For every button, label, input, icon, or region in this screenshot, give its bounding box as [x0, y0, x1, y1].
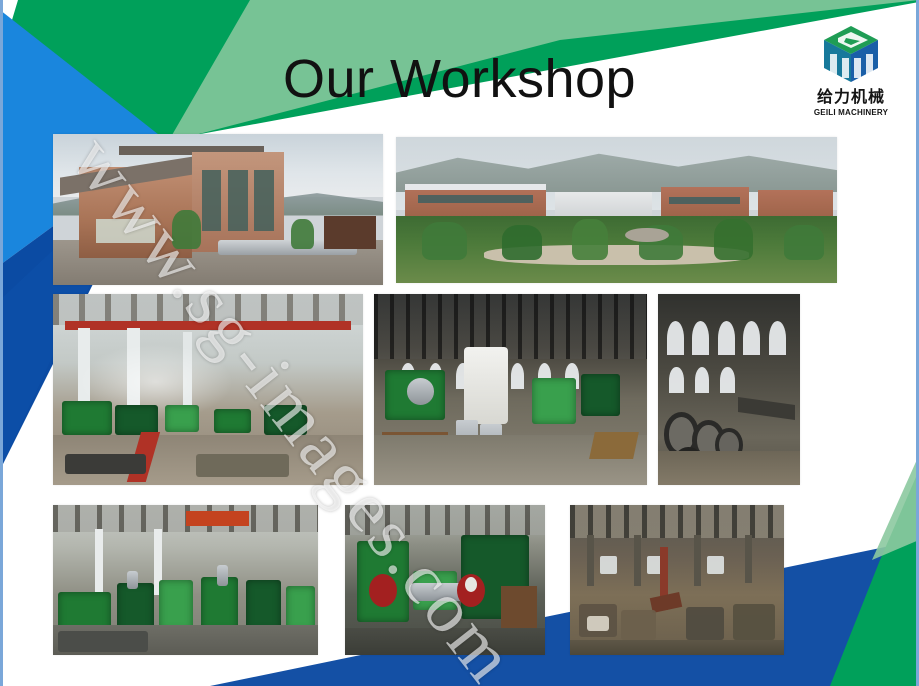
photo-roller-unit[interactable] — [345, 505, 545, 655]
photo-production-line[interactable] — [53, 505, 318, 655]
photo-factory-campus[interactable] — [396, 137, 837, 283]
logo-cube-icon — [820, 24, 882, 86]
photo-scrap-yard[interactable] — [570, 505, 784, 655]
photo-parts-storage[interactable] — [658, 294, 800, 485]
shape-bottom-green — [830, 470, 919, 686]
shape-bottom-green-light — [872, 455, 919, 560]
logo-chinese-name: 给力机械 — [795, 88, 907, 106]
company-logo: 给力机械 GEILI MACHINERY — [795, 24, 907, 128]
slide-our-workshop: Our Workshop 给力机械 GEILI MACHINERY — [0, 0, 919, 686]
logo-english-name: GEILI MACHINERY — [795, 108, 907, 117]
photo-machining-shop[interactable] — [374, 294, 647, 485]
photo-office-entrance[interactable] — [53, 134, 383, 285]
page-title: Our Workshop — [0, 48, 919, 110]
photo-assembly-hall[interactable] — [53, 294, 363, 485]
